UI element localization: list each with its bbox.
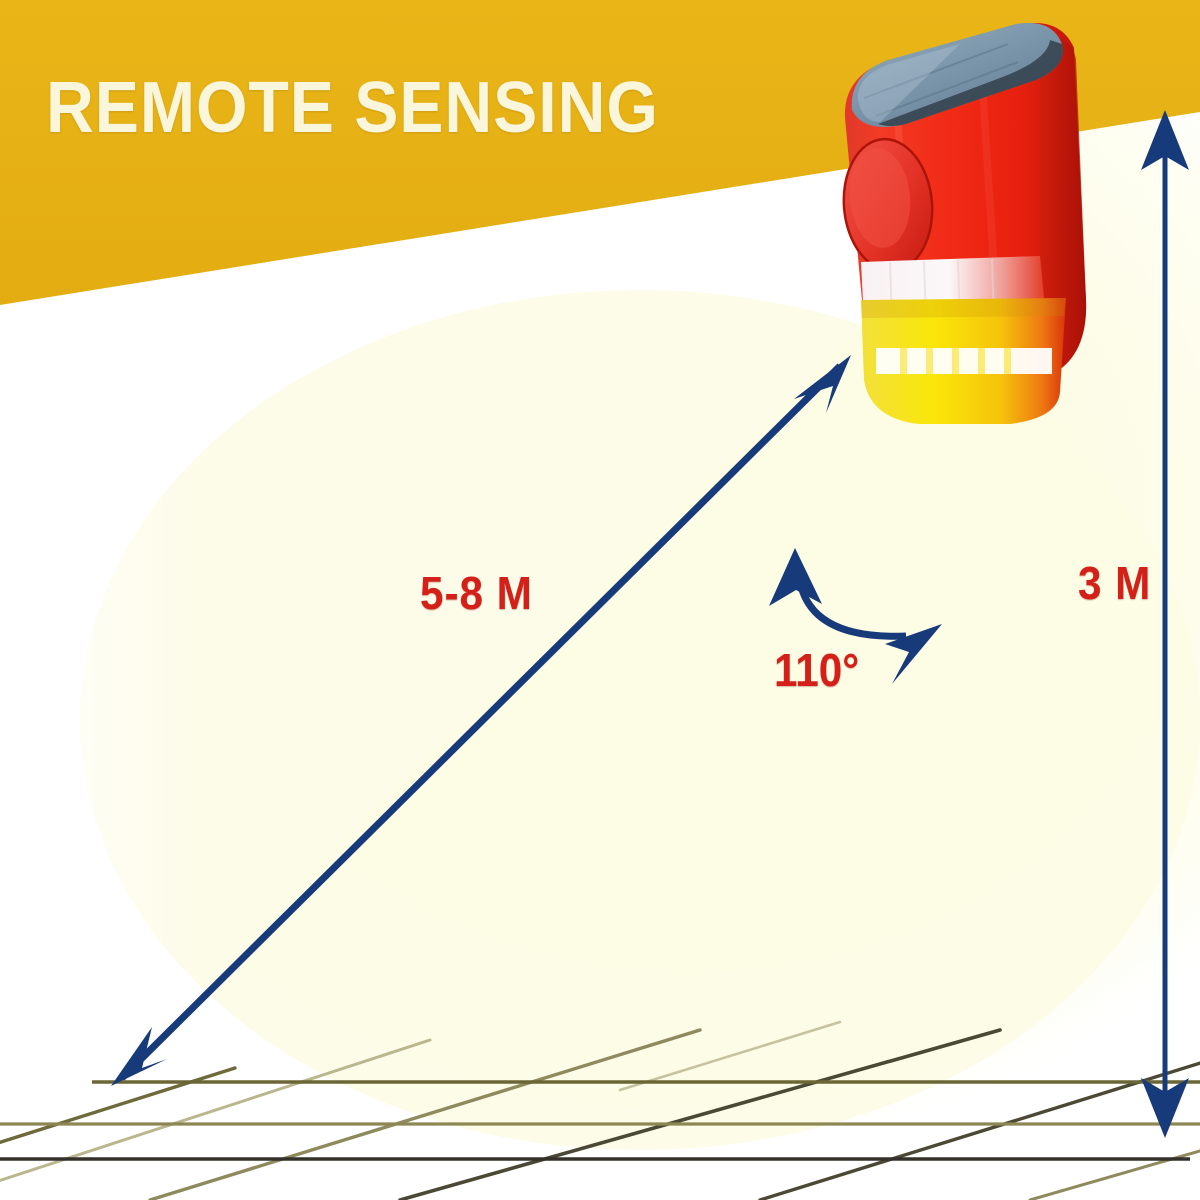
detection-range-label: 5-8 M xyxy=(420,566,533,620)
infographic-canvas: REMOTE SENSING xyxy=(0,0,1200,1200)
detection-range-arrow xyxy=(111,355,851,1086)
mounting-height-label: 3 M xyxy=(1078,556,1151,610)
dimension-annotation-layer xyxy=(0,0,1200,1200)
detection-angle-label: 110° xyxy=(774,643,859,697)
mounting-height-arrow xyxy=(1141,110,1189,1138)
